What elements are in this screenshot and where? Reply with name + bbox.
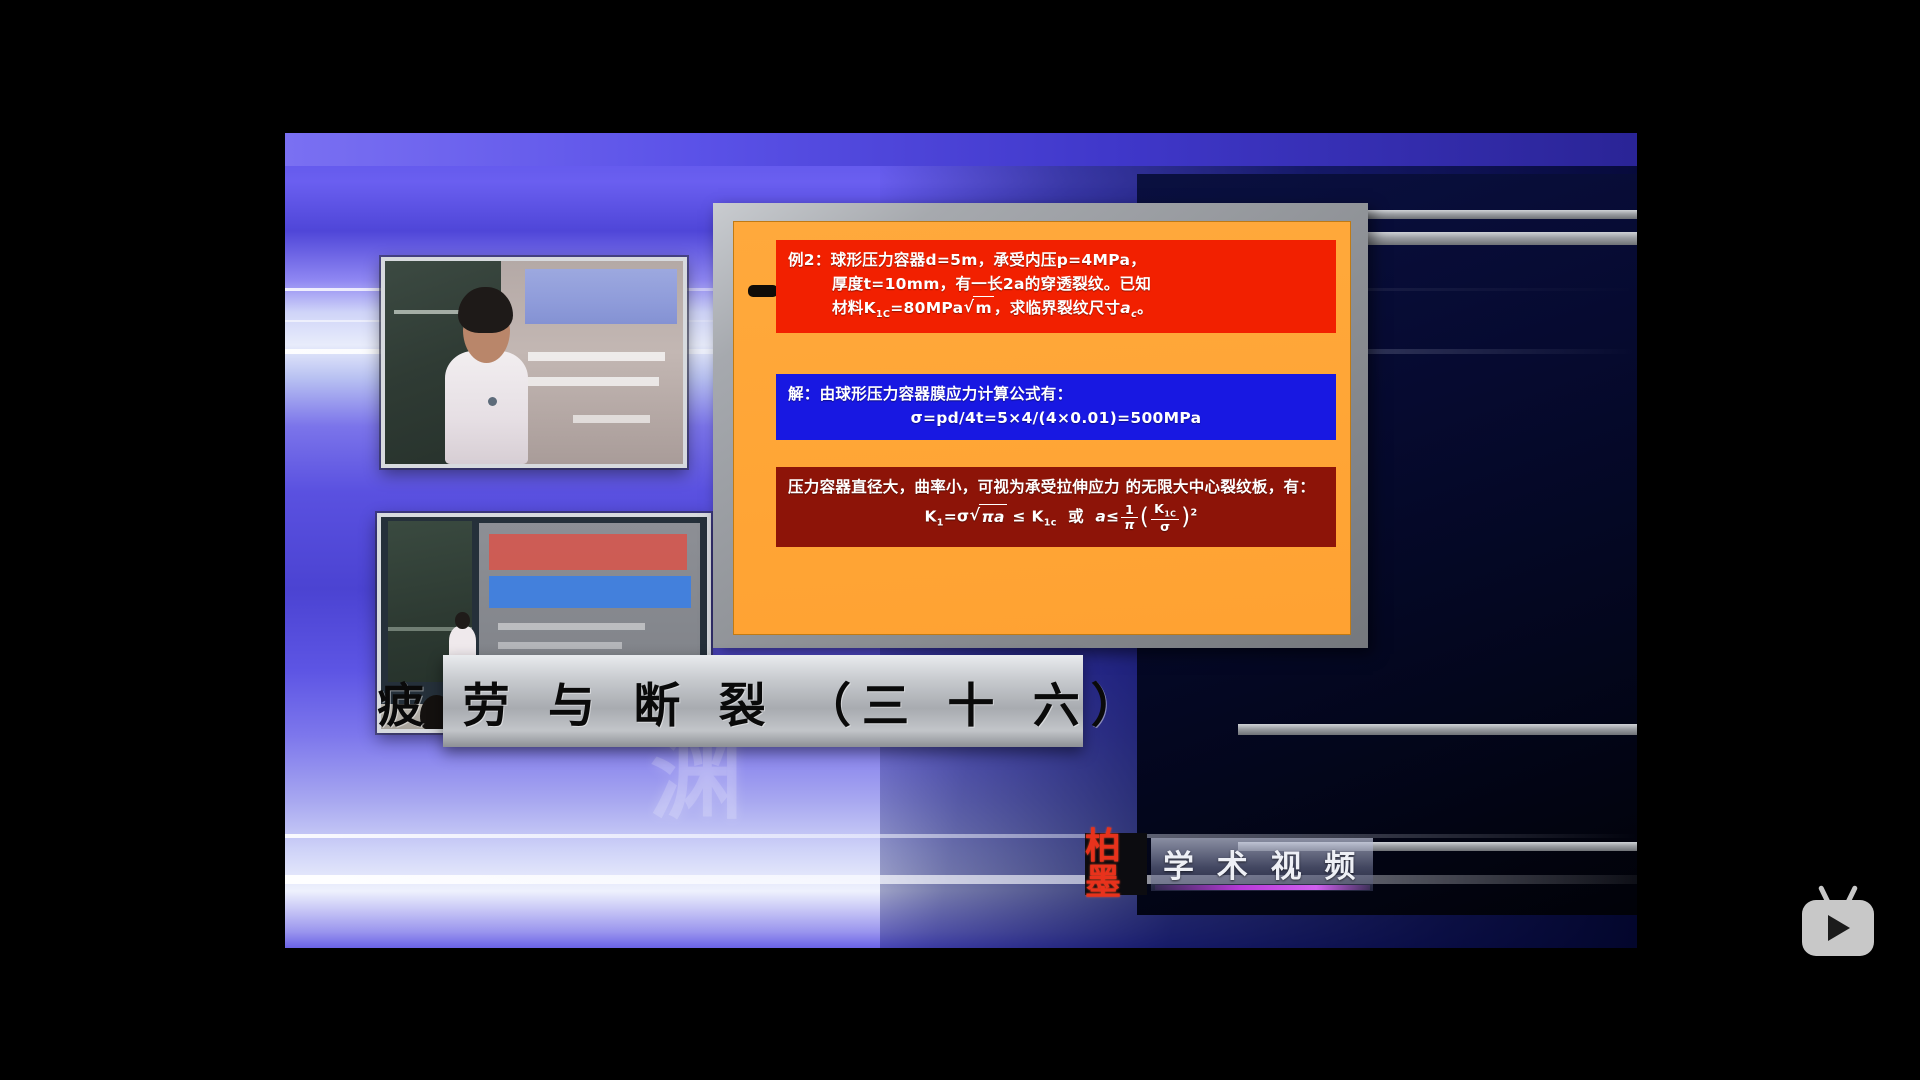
solution-box: 解：由球形压力容器膜应力计算公式有： σ=pd/4t=5×4/(4×0.01)=…	[776, 374, 1336, 440]
formula-le: ≤ K	[1012, 508, 1043, 526]
background-bezel-strip	[1238, 724, 1637, 735]
problem-line-1: 例2：球形压力容器d=5m，承受内压p=4MPa，	[788, 251, 1146, 269]
program-title-plate: 疲 劳 与 断 裂 （三 十 六）	[443, 655, 1083, 747]
kic-sub: 1C	[1164, 509, 1176, 518]
lecturer-shirt	[445, 351, 528, 464]
seal-logo-icon: 柏墨	[1085, 833, 1147, 895]
conclusion-line-2: 的无限大中心裂纹板，有：	[1126, 478, 1316, 496]
background-top-band	[285, 133, 1637, 166]
sqrt-pi-a: πa	[969, 504, 1006, 529]
fraction-numerator: K1C	[1151, 502, 1179, 520]
formula-le2: ≤	[1106, 508, 1119, 526]
problem-l3-d: 。	[1137, 299, 1153, 317]
tv-antenna-right	[1845, 885, 1858, 905]
fraction-kic-over-sigma: K1Cσ	[1151, 502, 1179, 533]
slide-content: 例2：球形压力容器d=5m，承受内压p=4MPa， 厚度t=10mm，有一长2a…	[733, 221, 1351, 635]
teacher-head	[455, 612, 470, 629]
formula-eq: =σ	[944, 508, 970, 526]
problem-line-2: 厚度t=10mm，有一长2a的穿透裂纹。已知	[788, 273, 1324, 297]
sqrt-radicand: m	[973, 296, 993, 321]
projected-slide-area	[525, 269, 677, 324]
solution-formula: σ=pd/4t=5×4/(4×0.01)=500MPa	[788, 406, 1324, 430]
fraction-numerator: 1	[1121, 503, 1137, 517]
projected-text-line	[528, 377, 659, 386]
projected-text-line	[498, 623, 645, 630]
lecturer-microphone	[488, 397, 497, 406]
formula-kic-sub: 1c	[1044, 518, 1057, 529]
kic-k: K	[1154, 501, 1164, 516]
sqrt-radicand: πa	[979, 504, 1006, 529]
problem-l3-sub: 1C	[876, 309, 890, 320]
watermark-label: 学 术 视 频	[1151, 838, 1373, 891]
tv-play-icon[interactable]	[1798, 892, 1878, 964]
fraction-denominator: σ	[1151, 520, 1179, 533]
conclusion-line-1: 压力容器直径大，曲率小，可视为承受拉伸应力	[788, 478, 1120, 496]
lecturer-scene	[385, 261, 683, 464]
conclusion-formula: K1=σπa ≤ K1c 或 a≤1π(K1Cσ)2	[788, 499, 1324, 535]
conclusion-box: 压力容器直径大，曲率小，可视为承受拉伸应力 的无限大中心裂纹板，有： K1=σπ…	[776, 467, 1336, 547]
solution-line-1: 解：由球形压力容器膜应力计算公式有：	[788, 385, 1072, 403]
paren-left: (	[1140, 503, 1149, 530]
problem-l3-b: =80MPa	[890, 299, 963, 317]
problem-l3-a: 材料K	[832, 299, 876, 317]
problem-l3-var: a	[1120, 299, 1131, 317]
lecturer-hair	[458, 287, 513, 333]
formula-a: a	[1095, 508, 1106, 526]
formula-k: K	[924, 508, 936, 526]
problem-statement-box: 例2：球形压力容器d=5m，承受内压p=4MPa， 厚度t=10mm，有一长2a…	[776, 240, 1336, 333]
watermark-underline	[1155, 885, 1370, 890]
slide-panel-frame: 例2：球形压力容器d=5m，承受内压p=4MPa， 厚度t=10mm，有一长2a…	[713, 203, 1368, 648]
bullet-dash-marker	[748, 285, 778, 297]
channel-watermark: 柏墨 学 术 视 频	[1085, 833, 1373, 895]
tv-body-shape	[1802, 900, 1874, 956]
projected-blue-box	[489, 576, 691, 608]
fraction-denominator: π	[1121, 518, 1137, 531]
formula-exponent: 2	[1191, 508, 1198, 519]
projected-text-line	[498, 642, 622, 649]
lecturer-figure	[445, 287, 528, 464]
formula-or: 或	[1068, 508, 1084, 526]
problem-l3-c: ，求临界裂纹尺寸	[994, 299, 1120, 317]
sqrt-m: m	[963, 296, 993, 321]
paren-right: )	[1181, 503, 1190, 530]
play-triangle	[1828, 915, 1850, 941]
screenshot-root: 渊	[0, 0, 1920, 1080]
tv-antenna-left	[1818, 885, 1831, 905]
fraction-one-over-pi: 1π	[1121, 503, 1137, 531]
projected-formula-line	[573, 415, 650, 423]
seal-text: 柏墨	[1085, 828, 1147, 900]
projected-red-box	[489, 534, 688, 570]
program-title: 疲 劳 与 断 裂 （三 十 六）	[377, 667, 1149, 736]
pip-lecturer-video[interactable]	[381, 257, 687, 468]
problem-line-3: 材料K1C=80MPam，求临界裂纹尺寸ac。	[788, 296, 1324, 323]
projected-text-line	[528, 352, 665, 361]
formula-k-sub: 1	[937, 518, 944, 529]
video-frame[interactable]: 渊	[285, 133, 1637, 948]
